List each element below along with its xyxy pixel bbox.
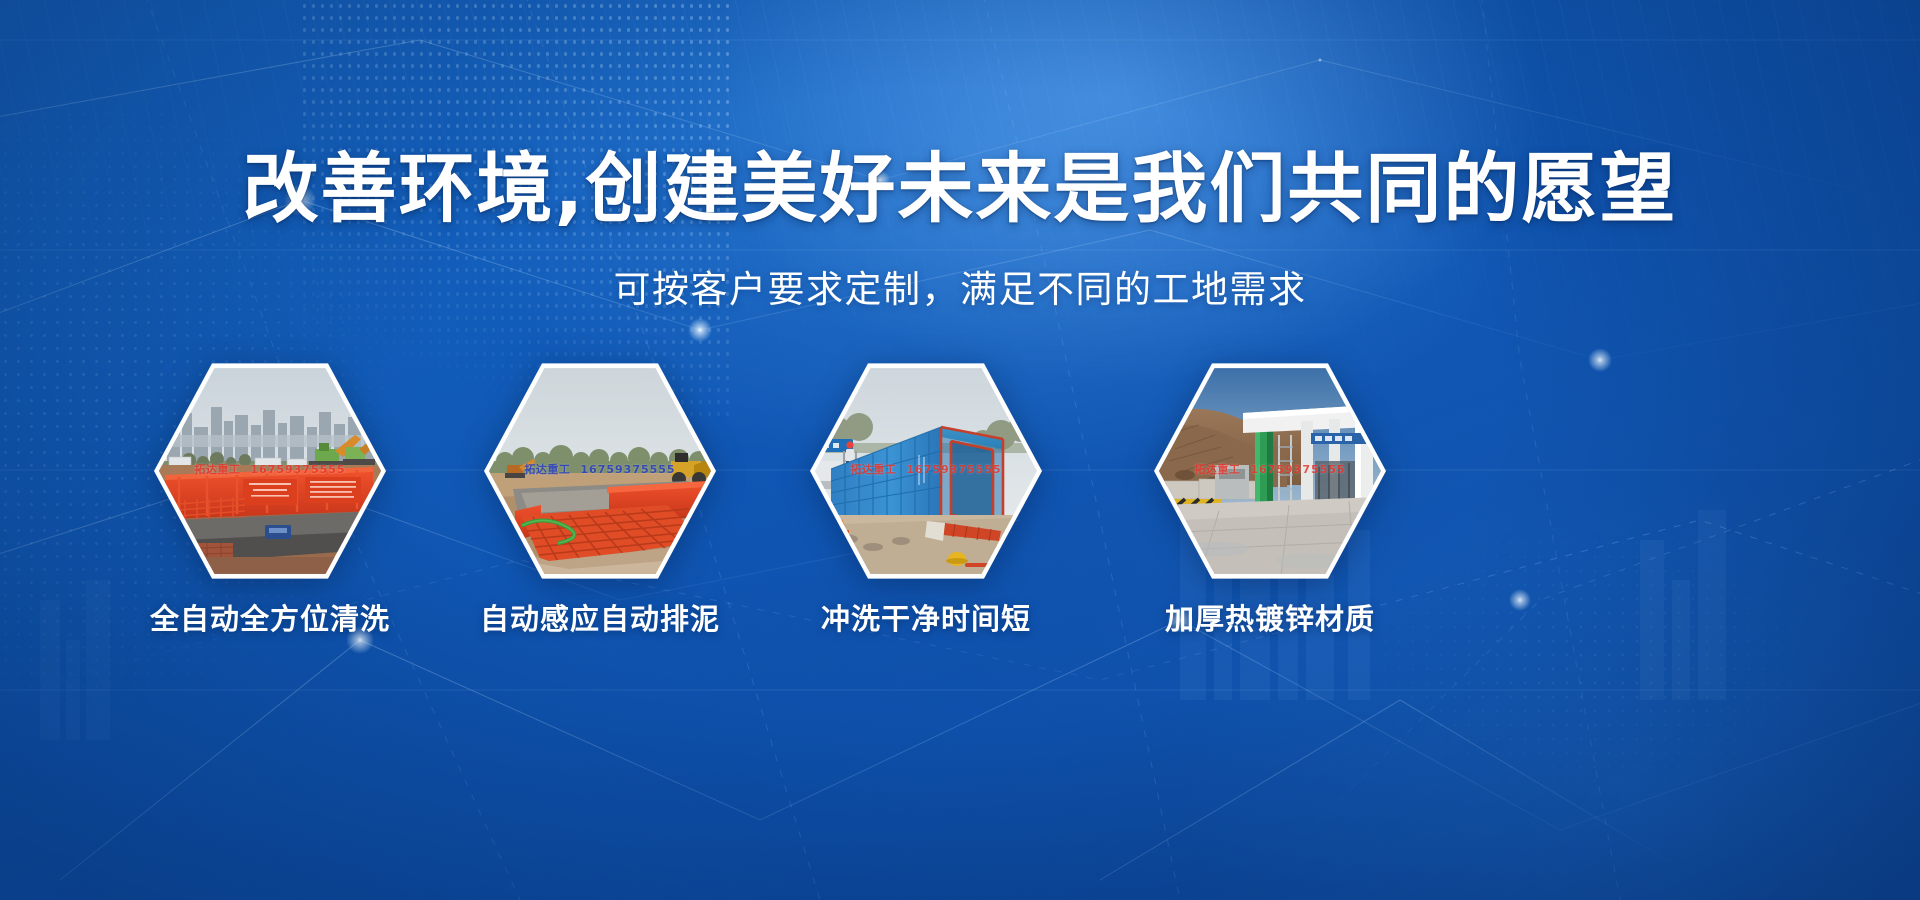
page-subtitle: 可按客户要求定制，满足不同的工地需求	[0, 268, 1920, 312]
feature-caption-3: 加厚热镀锌材质	[1118, 596, 1422, 638]
feature-card-1[interactable]: 拓达重工16759375555 自动感应自动排泥	[484, 360, 716, 582]
feature-caption-2: 冲洗干净时间短	[774, 596, 1078, 638]
feature-caption-1: 自动感应自动排泥	[448, 596, 752, 638]
page-title: 改善环境,创建美好未来是我们共同的愿望	[0, 150, 1920, 228]
hexagon-frame-0[interactable]: 拓达重工16759375555	[154, 360, 386, 582]
hexagon-photo-clip-1: 拓达重工16759375555	[489, 365, 711, 577]
feature-card-3[interactable]: 拓达重工16759375555 加厚热镀锌材质	[1154, 360, 1386, 582]
hexagon-photo-clip-2: 拓达重工16759375555	[815, 365, 1037, 577]
hexagon-frame-2[interactable]: 拓达重工16759375555	[810, 360, 1042, 582]
photo-gantry-wash-station	[1159, 365, 1381, 577]
photo-grate-platform-field	[489, 365, 711, 577]
hexagon-frame-1[interactable]: 拓达重工16759375555	[484, 360, 716, 582]
feature-caption-0: 全自动全方位清洗	[118, 596, 422, 638]
hexagon-photo-clip-3: 拓达重工16759375555	[1159, 365, 1381, 577]
hexagon-photo-clip-0: 拓达重工16759375555	[159, 365, 381, 577]
photo-blue-tunnel-wash-house	[815, 365, 1037, 577]
feature-card-2[interactable]: 拓达重工16759375555 冲洗干净时间短	[810, 360, 1042, 582]
promotional-banner: 改善环境,创建美好未来是我们共同的愿望 可按客户要求定制，满足不同的工地需求	[0, 0, 1920, 900]
photo-wheel-wash-city	[159, 365, 381, 577]
hexagon-frame-3[interactable]: 拓达重工16759375555	[1154, 360, 1386, 582]
feature-card-0[interactable]: 拓达重工16759375555 全自动全方位清洗	[154, 360, 386, 582]
feature-card-list: 拓达重工16759375555 全自动全方位清洗	[0, 360, 1920, 780]
